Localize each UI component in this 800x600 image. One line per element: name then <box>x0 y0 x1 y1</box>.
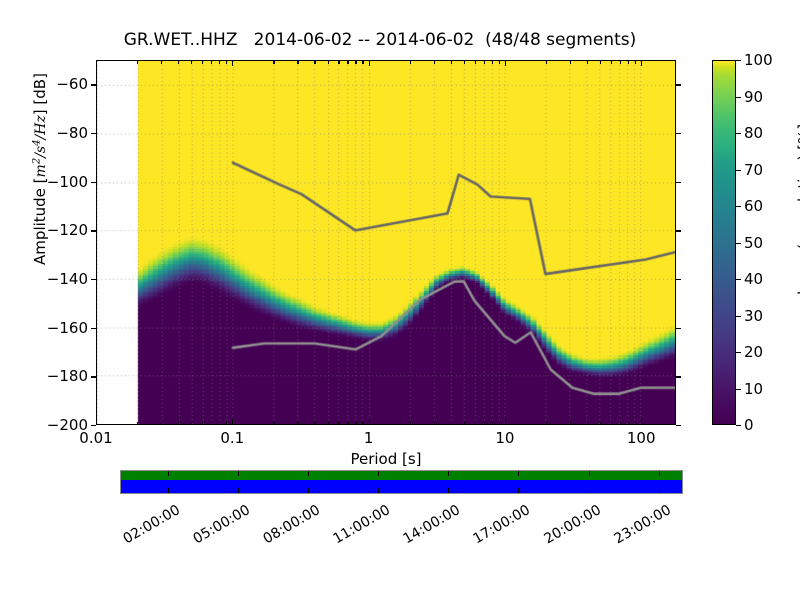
coverage-tick <box>168 471 169 476</box>
coverage-time-label: 23:00:00 <box>605 502 674 551</box>
y-tick-mark <box>91 182 96 183</box>
colorbar[interactable] <box>712 60 736 425</box>
x-tick-minor <box>226 422 227 426</box>
x-tick-minor-top <box>484 60 485 64</box>
x-tick-major <box>96 419 97 425</box>
y-axis-unit-m-exp: 2 <box>31 158 42 164</box>
y-axis-unit-s: s <box>33 146 49 153</box>
page-title: GR.WET..HHZ 2014-06-02 -- 2014-06-02 (48… <box>0 30 760 50</box>
x-tick-minor-top <box>347 60 348 64</box>
y-tick-mark-right <box>676 425 681 426</box>
colorbar-tick-mark <box>736 170 741 171</box>
x-tick-minor <box>451 422 452 426</box>
coverage-time-label: 17:00:00 <box>465 502 534 551</box>
x-tick-minor <box>570 422 571 426</box>
x-tick-minor-top <box>137 60 138 64</box>
x-tick-minor-top <box>328 60 329 64</box>
coverage-time-label: 05:00:00 <box>184 502 253 551</box>
y-tick-label: −60 <box>32 75 88 93</box>
colorbar-tick-mark <box>736 425 741 426</box>
colorbar-label: non-exceedance (cumulative) [%] <box>795 51 800 451</box>
x-tick-label: 100 <box>606 429 676 447</box>
colorbar-tick-label: 50 <box>744 234 763 252</box>
x-tick-minor-top <box>362 60 363 64</box>
colorbar-tick-mark <box>736 352 741 353</box>
x-tick-minor-top <box>570 60 571 64</box>
colorbar-tick-mark <box>736 279 741 280</box>
x-tick-minor-top <box>226 60 227 64</box>
x-tick-label: 1 <box>334 429 404 447</box>
x-tick-major <box>232 419 233 425</box>
colorbar-tick-mark <box>736 206 741 207</box>
x-tick-minor <box>355 422 356 426</box>
x-axis-label: Period [s] <box>96 450 676 468</box>
x-tick-minor-top <box>600 60 601 64</box>
x-tick-minor <box>546 422 547 426</box>
coverage-tick <box>168 488 169 493</box>
colorbar-tick-label: 0 <box>744 416 754 434</box>
x-tick-minor-top <box>338 60 339 64</box>
x-tick-minor-top <box>451 60 452 64</box>
x-tick-minor <box>273 422 274 426</box>
x-tick-major-top <box>232 60 233 66</box>
x-tick-minor <box>611 422 612 426</box>
x-tick-minor-top <box>191 60 192 64</box>
x-tick-minor <box>202 422 203 426</box>
coverage-time-label: 08:00:00 <box>254 502 323 551</box>
x-tick-minor-top <box>355 60 356 64</box>
x-tick-minor-top <box>628 60 629 64</box>
colorbar-tick-mark <box>736 316 741 317</box>
y-axis-unit-slash1: / <box>33 153 49 158</box>
coverage-tick <box>308 471 309 476</box>
x-tick-minor-top <box>499 60 500 64</box>
coverage-tick <box>378 471 379 476</box>
y-tick-label: −140 <box>32 270 88 288</box>
x-tick-minor <box>464 422 465 426</box>
y-tick-mark-right <box>676 84 681 85</box>
x-tick-minor-top <box>475 60 476 64</box>
x-tick-minor-top <box>546 60 547 64</box>
x-tick-minor <box>178 422 179 426</box>
x-tick-minor-top <box>219 60 220 64</box>
y-tick-mark <box>91 133 96 134</box>
x-tick-minor <box>434 422 435 426</box>
x-tick-major <box>505 419 506 425</box>
y-tick-mark-right <box>676 182 681 183</box>
x-tick-minor <box>620 422 621 426</box>
x-tick-major-top <box>641 60 642 66</box>
x-tick-label: 0.1 <box>197 429 267 447</box>
colorbar-tick-mark <box>736 133 741 134</box>
coverage-tick <box>518 471 519 476</box>
coverage-time-label: 14:00:00 <box>395 502 464 551</box>
x-tick-minor-top <box>202 60 203 64</box>
x-tick-minor-top <box>635 60 636 64</box>
coverage-time-label: 02:00:00 <box>114 502 183 551</box>
y-tick-label: −120 <box>32 221 88 239</box>
x-tick-minor <box>628 422 629 426</box>
x-tick-minor <box>362 422 363 426</box>
y-tick-mark-right <box>676 279 681 280</box>
coverage-band-green <box>121 471 682 480</box>
colorbar-tick-label: 30 <box>744 307 763 325</box>
x-tick-minor <box>191 422 192 426</box>
x-tick-minor <box>600 422 601 426</box>
x-tick-major-top <box>505 60 506 66</box>
x-tick-minor <box>410 422 411 426</box>
coverage-tick <box>448 488 449 493</box>
x-tick-minor-top <box>410 60 411 64</box>
y-tick-mark <box>91 376 96 377</box>
colorbar-tick-label: 10 <box>744 380 763 398</box>
y-tick-mark-right <box>676 328 681 329</box>
x-tick-minor <box>219 422 220 426</box>
colorbar-tick-mark <box>736 97 741 98</box>
colorbar-tick-label: 90 <box>744 88 763 106</box>
x-tick-minor-top <box>314 60 315 64</box>
y-tick-mark <box>91 328 96 329</box>
colorbar-tick-label: 40 <box>744 270 763 288</box>
x-tick-minor-top <box>464 60 465 64</box>
colorbar-tick-mark <box>736 243 741 244</box>
x-tick-minor-top <box>434 60 435 64</box>
x-tick-minor <box>635 422 636 426</box>
ppsd-histogram-canvas <box>97 61 675 424</box>
y-tick-label: −160 <box>32 319 88 337</box>
y-tick-label: −180 <box>32 367 88 385</box>
x-tick-minor-top <box>611 60 612 64</box>
coverage-tick <box>518 488 519 493</box>
x-tick-major-top <box>369 60 370 66</box>
y-tick-mark-right <box>676 133 681 134</box>
x-tick-label: 0.01 <box>61 429 131 447</box>
x-tick-minor <box>475 422 476 426</box>
colorbar-tick-label: 60 <box>744 197 763 215</box>
x-tick-major <box>641 419 642 425</box>
coverage-tick <box>659 471 660 476</box>
x-tick-minor <box>484 422 485 426</box>
x-tick-major-top <box>96 60 97 66</box>
x-tick-minor <box>499 422 500 426</box>
y-tick-mark <box>91 425 96 426</box>
time-coverage-bar[interactable] <box>120 470 683 494</box>
coverage-tick <box>659 488 660 493</box>
x-tick-minor-top <box>297 60 298 64</box>
y-tick-mark-right <box>676 230 681 231</box>
ppsd-main-axes[interactable] <box>96 60 676 425</box>
y-tick-mark <box>91 279 96 280</box>
coverage-band-blue <box>121 480 682 493</box>
coverage-time-label: 20:00:00 <box>535 502 604 551</box>
x-tick-minor-top <box>587 60 588 64</box>
x-tick-minor-top <box>620 60 621 64</box>
colorbar-tick-mark <box>736 60 741 61</box>
x-tick-minor-top <box>492 60 493 64</box>
x-tick-minor <box>587 422 588 426</box>
x-tick-minor <box>137 422 138 426</box>
x-tick-minor <box>492 422 493 426</box>
coverage-tick <box>238 488 239 493</box>
coverage-tick <box>589 471 590 476</box>
x-tick-minor <box>211 422 212 426</box>
colorbar-tick-label: 80 <box>744 124 763 142</box>
x-tick-minor-top <box>178 60 179 64</box>
x-tick-minor <box>338 422 339 426</box>
colorbar-tick-label: 100 <box>744 51 773 69</box>
x-tick-minor <box>347 422 348 426</box>
coverage-tick <box>448 471 449 476</box>
x-tick-minor <box>328 422 329 426</box>
x-tick-minor <box>297 422 298 426</box>
x-tick-minor-top <box>273 60 274 64</box>
y-tick-mark <box>91 84 96 85</box>
x-tick-minor-top <box>161 60 162 64</box>
coverage-tick <box>589 488 590 493</box>
y-tick-mark-right <box>676 376 681 377</box>
y-tick-label: −80 <box>32 124 88 142</box>
colorbar-tick-mark <box>736 389 741 390</box>
colorbar-tick-label: 20 <box>744 343 763 361</box>
colorbar-tick-label: 70 <box>744 161 763 179</box>
coverage-tick <box>238 471 239 476</box>
coverage-tick <box>308 488 309 493</box>
x-tick-minor-top <box>211 60 212 64</box>
y-tick-label: −100 <box>32 173 88 191</box>
y-tick-mark <box>91 230 96 231</box>
x-tick-minor <box>314 422 315 426</box>
coverage-time-label: 11:00:00 <box>325 502 394 551</box>
x-tick-minor <box>161 422 162 426</box>
x-tick-label: 10 <box>470 429 540 447</box>
coverage-tick <box>378 488 379 493</box>
ppsd-figure: GR.WET..HHZ 2014-06-02 -- 2014-06-02 (48… <box>0 0 800 600</box>
x-tick-major <box>369 419 370 425</box>
